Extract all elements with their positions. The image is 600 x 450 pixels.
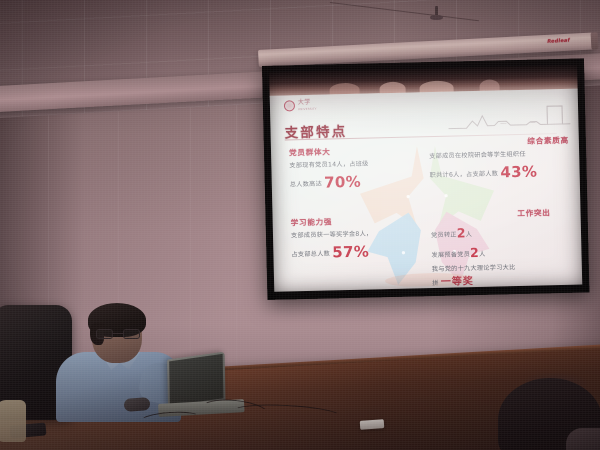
roller-end-cap [591,32,599,49]
logo-subtext: UNIVERSITY [298,106,317,110]
projection-screen: 大学 UNIVERSITY 支部特点 [262,58,589,300]
block-body-line2: 总人数高达 [290,181,322,189]
presenter-remote[interactable] [360,419,385,430]
block-heading: 综合素质高 [429,135,575,149]
stat-block-party-members: 党员群体大 支部现有党员14人，占班级 总人数高达 70% [289,145,382,195]
stat-block-learning: 学习能力强 支部成员获一等奖学金8人， 占支部总人数 57% [291,215,388,266]
university-seal-icon [284,100,295,111]
table-object [0,400,26,442]
block-heading: 党员群体大 [289,145,381,158]
stat-block-quality: 综合素质高 支部成员在校院研会等学生组织任 职共计6人，占支部人数 43% [429,135,576,187]
city-skyline-icon [448,102,571,131]
work-line1-suffix: 人 [466,231,473,238]
sprinkler-icon [430,6,443,22]
block-metric: 43% [500,163,537,182]
slide-logo: 大学 UNIVERSITY [284,100,317,112]
work-line2-suffix: 人 [479,251,486,258]
work-line2-prefix: 发展预备党员 [431,251,470,259]
block-heading: 工作突出 [430,207,576,221]
roller-brand-label: Redleaf [547,38,570,45]
block-metric: 57% [332,243,369,262]
work-line4-prefix: 拼 [432,279,439,286]
block-body-line2: 职共计6人，占支部人数 [430,171,499,180]
glasses-icon [96,329,140,339]
slide-content: 大学 UNIVERSITY 支部特点 [270,89,583,292]
work-line1-prefix: 党员转正 [431,231,457,239]
work-line2-metric: 2 [470,245,479,260]
photo-scene: Redleaf 大学 UNIVERSITY [0,0,600,450]
block-heading: 学习能力强 [291,215,387,228]
work-line1-metric: 2 [457,225,466,240]
stat-block-work: 工作突出 党员转正2人 发展预备党员2人 我与党的十九大理论学习大比 拼 一等奖 [430,207,578,291]
block-metric: 70% [324,173,361,192]
attendee-shoulder [566,428,600,450]
mouse[interactable] [124,397,151,412]
work-award: 一等奖 [441,276,474,288]
block-body-line2: 占支部总人数 [291,250,330,258]
